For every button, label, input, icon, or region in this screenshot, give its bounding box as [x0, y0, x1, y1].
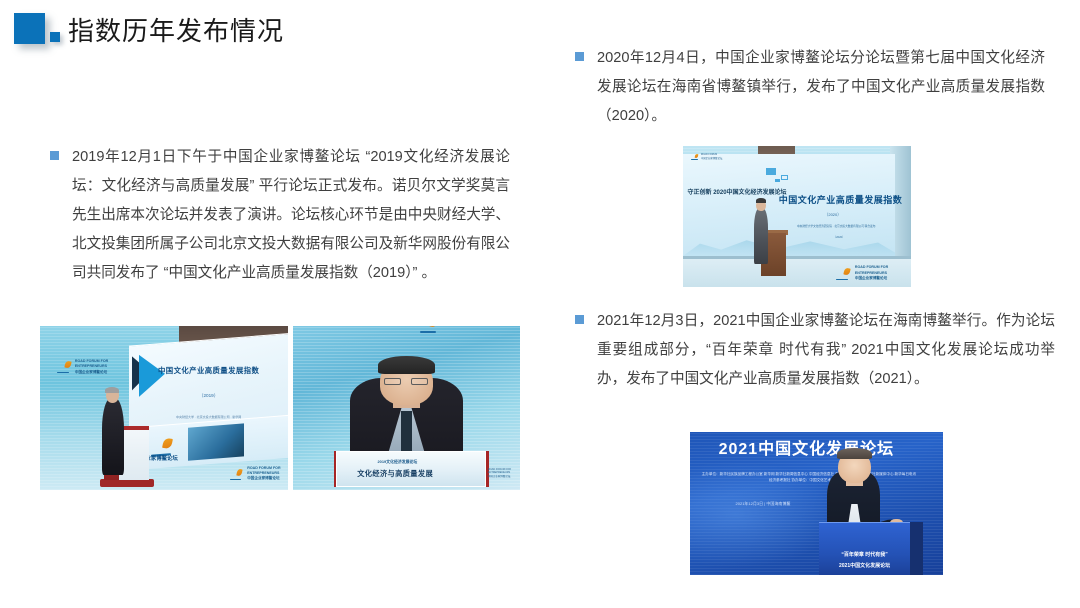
square-large-icon: [14, 13, 45, 44]
bullet-text-2019: 2019年12月1日下午于中国企业家博鳌论坛 “2019文化经济发展论坛：文化经…: [72, 143, 510, 288]
lectern-side-text: ROAD FORUM FORENTREPRENEURS中国企业家博鳌论坛: [488, 468, 511, 479]
bullet-text-2021: 2021年12月3日，2021中国企业家博鳌论坛在海南博鳌举行。作为论坛重要组成…: [597, 307, 1055, 394]
photo-2019-ceremony: 中国文化产业高质量发展指数 （2019） 中央财经大学 · 北京文投大数据有限公…: [40, 326, 288, 490]
wall-credit2-text: （2020）: [833, 235, 844, 239]
photo-2021-forum: 2021中国文化发展论坛 主办单位：新华社民族品牌工程办公室 新华网 新华社新闻…: [690, 432, 943, 575]
bullet-square-icon: [50, 151, 59, 160]
decor-square-outline-icon: [781, 175, 788, 180]
forum-fan-logo-icon: [55, 360, 72, 373]
logo-bottom-right-text: ROAD FORUM FORENTREPRENEURS中国企业家博鳌论坛: [855, 265, 888, 281]
wall-title-text: 中国文化产业高质量发展指数: [779, 193, 903, 206]
bullet-block-2020: 2020年12月4日，中国企业家博鳌论坛分论坛暨第七届中国文化经济发展论坛在海南…: [575, 44, 1045, 131]
forum-fan-logo-icon: [834, 267, 851, 280]
forum-fan-logo-icon: [418, 326, 439, 333]
lectern-line2-text: 2021中国文化发展论坛: [822, 562, 908, 569]
forum-fan-logo-icon: [690, 153, 699, 160]
backdrop-organizers-text: 主办单位：新华社民族品牌工程办公室 新华网 新华社新闻信息中心 中国经济信息社 …: [700, 471, 918, 485]
speaker-tie: [401, 411, 412, 454]
lectern-main-text: 文化经济与高质量发展: [343, 469, 447, 479]
backdrop-date-text: 2021年12月3日 | 中国海南博鳌: [736, 501, 791, 507]
bullet-text-2020: 2020年12月4日，中国企业家博鳌论坛分论坛暨第七届中国文化经济发展论坛在海南…: [597, 44, 1045, 131]
eyeglass-right-icon: [411, 378, 428, 385]
screen-year-text: （2019）: [139, 393, 278, 399]
eyeglass-left-icon: [384, 378, 401, 385]
speaker-hair: [756, 198, 766, 203]
photo-2019-keynote: 2019文化经济发展论坛 文化经济与高质量发展 ROAD FORUM FOREN…: [293, 326, 520, 490]
page-title: 指数历年发布情况: [14, 12, 284, 52]
square-small-icon: [50, 32, 60, 42]
speaker-hair: [105, 387, 119, 394]
wall-left-text: 守正创新 2020中国文化经济发展论坛: [688, 187, 787, 196]
decor-square-icon: [766, 168, 777, 175]
bullet-square-icon: [575, 315, 584, 324]
decor-square-icon: [775, 179, 780, 183]
logo-top-left-text: ROAD FORUM中国企业家博鳌论坛: [701, 153, 723, 160]
speaker-hair: [837, 448, 872, 459]
banner-bottom-right: ROAD FORUM FORENTREPRENEURS中国企业家博鳌论坛: [228, 466, 280, 482]
lectern-line1-text: “百年荣章 时代有我”: [822, 551, 908, 558]
title-decoration: [14, 12, 68, 52]
photo-inset-image: [188, 424, 244, 462]
bullet-block-2019: 2019年12月1日下午于中国企业家博鳌论坛 “2019文化经济发展论坛：文化经…: [50, 143, 510, 288]
lectern-title-text: 2019文化经济发展论坛: [347, 459, 447, 465]
logo-bottom-right: ROAD FORUM FORENTREPRENEURS中国企业家博鳌论坛: [834, 265, 888, 281]
banner-bottom-right-text: ROAD FORUM FORENTREPRENEURS中国企业家博鳌论坛: [247, 466, 280, 482]
logo-top-left: ROAD FORUM中国企业家博鳌论坛: [690, 153, 723, 160]
bullet-block-2021: 2021年12月3日，2021中国企业家博鳌论坛在海南博鳌举行。作为论坛重要组成…: [575, 307, 1055, 394]
speaker-hair: [378, 356, 435, 374]
speaker-body: [102, 398, 124, 475]
wall-subtitle-text: （2020）: [824, 212, 841, 218]
stage-edge: [683, 256, 911, 259]
banner-left: ROAD FORUM FORENTREPRENEURS中国企业家博鳌论坛: [55, 359, 108, 375]
backdrop-title-text: 2021中国文化发展论坛: [705, 435, 907, 459]
page-title-text: 指数历年发布情况: [68, 18, 284, 46]
screen-title-text: 中国文化产业高质量发展指数: [139, 365, 278, 376]
wall-credit-text: 中央财经大学文化经济研究院 · 北京文投大数据有限公司 联合发布: [797, 225, 875, 229]
forum-fan-logo-icon: [228, 468, 243, 480]
banner-left-text: ROAD FORUM FORENTREPRENEURS中国企业家博鳌论坛: [75, 359, 108, 375]
photo-2020-forum: 守正创新 2020中国文化经济发展论坛 中国文化产业高质量发展指数 （2020）…: [683, 146, 911, 287]
speaker-body: [754, 208, 769, 264]
bullet-square-icon: [575, 52, 584, 61]
